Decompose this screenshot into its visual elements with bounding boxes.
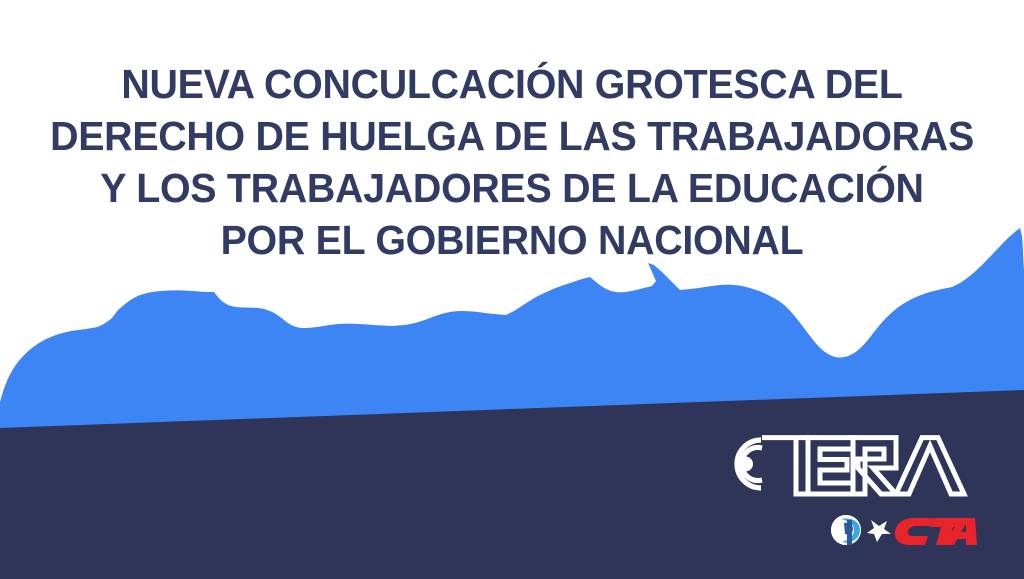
cta-wordmark-glyphs [895,518,977,545]
headline-line-4: POR EL GOBIERNO NACIONAL [20,214,1003,266]
headline-line-2: DERECHO DE HUELGA DE LAS TRABAJADORAS [20,110,1003,162]
headline-line-1: NUEVA CONCULCACIÓN GROTESCA DEL [20,58,1003,110]
ctera-letter-e [808,438,853,494]
poster-canvas: NUEVA CONCULCACIÓN GROTESCA DEL DERECHO … [0,0,1024,579]
ctera-letter-r [853,438,896,494]
ctera-wordmark [705,428,971,500]
cta-sublogo-row [829,506,975,550]
ctera-letter-t [762,438,808,494]
ctera-letter-a [896,438,964,494]
cta-bird-icon [867,520,891,542]
ctera-c-center-dot [738,457,753,472]
headline-line-3: Y LOS TRABAJADORES DE LA EDUCACIÓN [20,162,1003,214]
ctera-logo[interactable] [705,428,995,558]
headline-block: NUEVA CONCULCACIÓN GROTESCA DEL DERECHO … [0,58,1024,266]
cta-emblem-icon [831,515,861,545]
